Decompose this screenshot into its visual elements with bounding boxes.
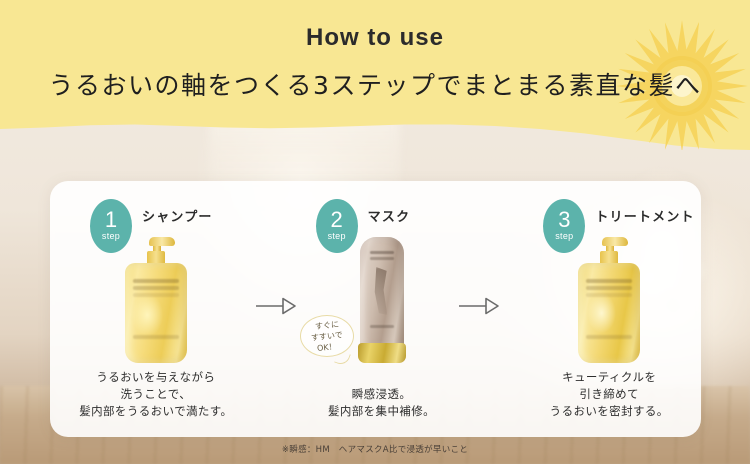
pump-bottle-icon bbox=[125, 237, 187, 363]
step-2-header: 2 step マスク bbox=[290, 181, 474, 237]
caption-line: 洗うことで、 bbox=[79, 386, 232, 403]
step-badge-number: 3 bbox=[558, 210, 570, 230]
bottle-body bbox=[578, 263, 640, 363]
arrow-right-icon-2 bbox=[458, 297, 500, 315]
step-item-1: 1 step シャンプー うるおいを与えながら 洗うことで、 髪内部をうるおいで… bbox=[64, 181, 248, 437]
caption-line: キューティクルを bbox=[550, 369, 669, 386]
tube-body bbox=[360, 237, 404, 347]
step-badge-number: 2 bbox=[331, 210, 343, 230]
product-image-shampoo bbox=[64, 233, 248, 363]
caption-line: 瞬感浸透。 bbox=[328, 386, 435, 403]
page-title-english: How to use bbox=[306, 24, 444, 52]
product-image-mask: すぐに すすいで OK！ bbox=[290, 233, 474, 363]
step-item-3: 3 step トリートメント キューティクルを 引き締めて うるおいを密封する。 bbox=[517, 181, 701, 437]
bottle-body bbox=[125, 263, 187, 363]
hair-mask-tube-icon bbox=[356, 237, 408, 363]
step-title-1: シャンプー bbox=[142, 206, 213, 225]
header-banner: How to use うるおいの軸をつくる3ステップでまとまる素直な髪へ bbox=[0, 0, 750, 150]
product-image-treatment bbox=[517, 233, 701, 363]
step-title-3: トリートメント bbox=[595, 206, 694, 225]
tube-cap bbox=[358, 343, 406, 363]
caption-line: 髪内部を集中補修。 bbox=[328, 403, 435, 420]
steps-list: 1 step シャンプー うるおいを与えながら 洗うことで、 髪内部をうるおいで… bbox=[50, 181, 701, 437]
step-3-header: 3 step トリートメント bbox=[517, 181, 701, 237]
caption-line: うるおいを与えながら bbox=[79, 369, 232, 386]
footnote-text: ※瞬感：HM ヘアマスクA比で浸透が早いこと bbox=[0, 443, 750, 455]
step-badge-number: 1 bbox=[105, 210, 117, 230]
caption-line: 髪内部をうるおいで満たす。 bbox=[79, 403, 232, 420]
steps-card: 1 step シャンプー うるおいを与えながら 洗うことで、 髪内部をうるおいで… bbox=[50, 181, 701, 437]
pump-bottle-icon bbox=[578, 237, 640, 363]
caption-line: 引き締めて bbox=[550, 386, 669, 403]
bubble-line: OK！ bbox=[316, 341, 337, 354]
step-title-2: マスク bbox=[368, 206, 411, 225]
page-title-japanese: うるおいの軸をつくる3ステップでまとまる素直な髪へ bbox=[49, 66, 702, 102]
step-caption-1: うるおいを与えながら 洗うことで、 髪内部をうるおいで満たす。 bbox=[79, 369, 232, 420]
step-caption-3: キューティクルを 引き締めて うるおいを密封する。 bbox=[550, 369, 669, 420]
caption-line: うるおいを密封する。 bbox=[550, 403, 669, 420]
step-caption-2: 瞬感浸透。 髪内部を集中補修。 bbox=[328, 386, 435, 420]
step-1-header: 1 step シャンプー bbox=[64, 181, 248, 237]
speech-bubble-rinse: すぐに すすいで OK！ bbox=[300, 315, 354, 357]
step-item-2: 2 step マスク すぐに すすいで OK！ 瞬感浸透。 髪内部を集中補修。 bbox=[290, 181, 474, 437]
